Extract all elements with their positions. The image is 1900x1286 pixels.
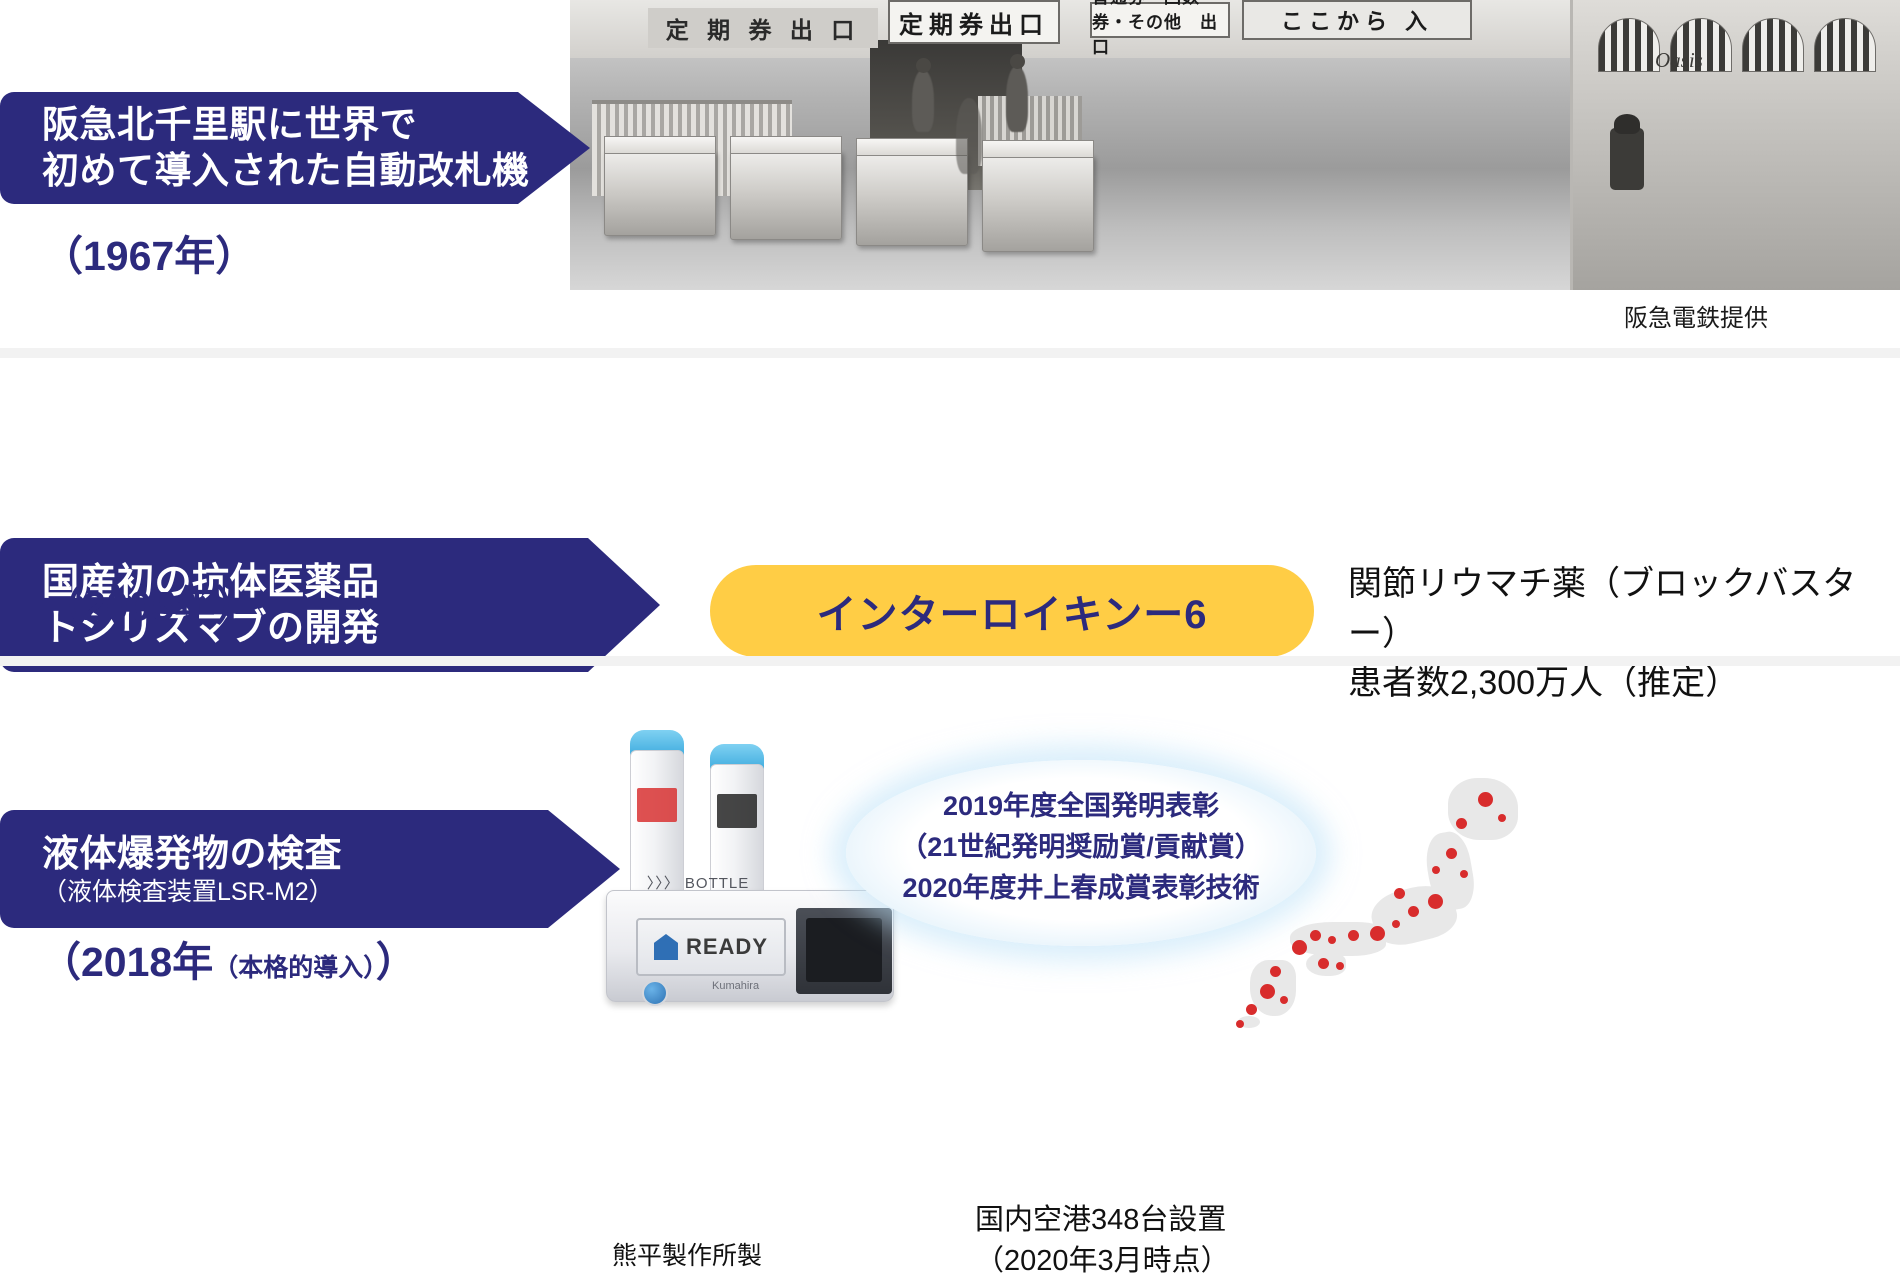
ticket-gate-top — [604, 136, 716, 154]
row2-description: 関節リウマチ薬（ブロックバスター） 患者数2,300万人（推定） — [1348, 560, 1900, 709]
ticket-gate-unit — [982, 154, 1094, 252]
year-label-3-main: （2018年 — [40, 939, 213, 985]
person-silhouette — [1006, 66, 1028, 132]
gate-photograph: 定 期 券 出 口 定期券出口 普通券・回数券・その他 出口 ここから 入 Oa… — [570, 0, 1900, 290]
row-divider-1 — [0, 348, 1900, 358]
map-dot — [1456, 818, 1467, 829]
banner-arrow-3-sublabel: （液体検査装置LSR-M2） — [0, 877, 342, 907]
ticket-gate-top — [856, 138, 968, 156]
banner-arrow-3: 液体爆発物の検査 （液体検査装置LSR-M2） — [0, 810, 620, 928]
map-dot — [1310, 930, 1321, 941]
person-silhouette-blurred — [956, 98, 982, 174]
kiosk-awning — [1814, 18, 1876, 72]
map-dot — [1318, 958, 1329, 969]
bottle-right-label — [717, 794, 757, 828]
device-bottle-icon — [654, 934, 678, 960]
device-power-button — [642, 980, 668, 1006]
map-dot — [1236, 1020, 1244, 1028]
station-sign-3: 普通券・回数券・その他 出口 — [1090, 2, 1230, 38]
person-head — [916, 58, 931, 73]
station-sign-4: ここから 入 — [1242, 0, 1472, 40]
person-head — [1010, 54, 1025, 69]
map-dot — [1478, 792, 1493, 807]
kiosk-awning — [1598, 18, 1660, 72]
year-label-3-end: ） — [376, 939, 417, 985]
banner-arrow-1-label: 阪急北千里駅に世界で 初めて導入された自動改札機 — [0, 102, 530, 194]
map-dot — [1370, 926, 1385, 941]
infographic-page: 定 期 券 出 口 定期券出口 普通券・回数券・その他 出口 ここから 入 Oa… — [0, 0, 1900, 1286]
oasis-logo: Oasis — [1655, 48, 1703, 73]
interleukin-pill-label: インターロイキンー6 — [816, 582, 1207, 640]
year-label-3: （2018年（本格的導入）） — [40, 928, 417, 988]
ticket-gate-unit — [856, 152, 968, 246]
person-silhouette — [912, 70, 934, 132]
station-staff-head — [1614, 114, 1640, 134]
map-dot — [1432, 866, 1440, 874]
ticket-gate-top — [730, 136, 842, 154]
japan-deployment-map — [1232, 770, 1532, 1040]
map-dot — [1270, 966, 1281, 977]
station-sign-2: 定期券出口 — [888, 0, 1060, 44]
map-dot — [1260, 984, 1275, 999]
map-dot — [1280, 996, 1288, 1004]
map-dot — [1392, 920, 1400, 928]
map-dot — [1246, 1004, 1257, 1015]
map-dot — [1328, 936, 1336, 944]
year-label-2: （2005年） — [42, 572, 256, 632]
map-dot — [1292, 940, 1307, 955]
banner-arrow-3-label: 液体爆発物の検査 — [0, 831, 342, 877]
banner-arrow-1: 阪急北千里駅に世界で 初めて導入された自動改札機 — [0, 92, 590, 204]
device-caption: 熊平製作所製 — [612, 1236, 762, 1272]
device-tray-inner — [806, 918, 882, 982]
kiosk-awning — [1742, 18, 1804, 72]
map-dot — [1408, 906, 1419, 917]
map-dot — [1446, 848, 1457, 859]
device-brand-mark: Kumahira — [712, 980, 759, 992]
map-caption: 国内空港348台設置 （2020年3月時点） — [975, 1200, 1230, 1282]
device-status-text: READY — [686, 934, 768, 960]
station-staff-body — [1610, 128, 1644, 190]
row-divider-2 — [0, 656, 1900, 666]
device-screen: READY — [636, 918, 786, 976]
year-label-3-small: （本格的導入） — [213, 954, 376, 982]
map-dot — [1348, 930, 1359, 941]
map-dot — [1460, 870, 1468, 878]
year-label-1: （1967年） — [42, 222, 256, 282]
map-region-hokkaido — [1448, 778, 1518, 840]
ticket-gate-top — [982, 140, 1094, 158]
map-dot — [1498, 814, 1506, 822]
map-dot — [1394, 888, 1405, 899]
ticket-gate-unit — [730, 150, 842, 240]
station-sign-1: 定 期 券 出 口 — [648, 8, 878, 48]
ticket-gate-unit — [604, 150, 716, 236]
interleukin-pill: インターロイキンー6 — [710, 565, 1314, 657]
photo-credit: 阪急電鉄提供 — [1624, 298, 1768, 333]
bottle-left-label — [637, 788, 677, 822]
map-dot — [1336, 962, 1344, 970]
map-dot — [1428, 894, 1443, 909]
